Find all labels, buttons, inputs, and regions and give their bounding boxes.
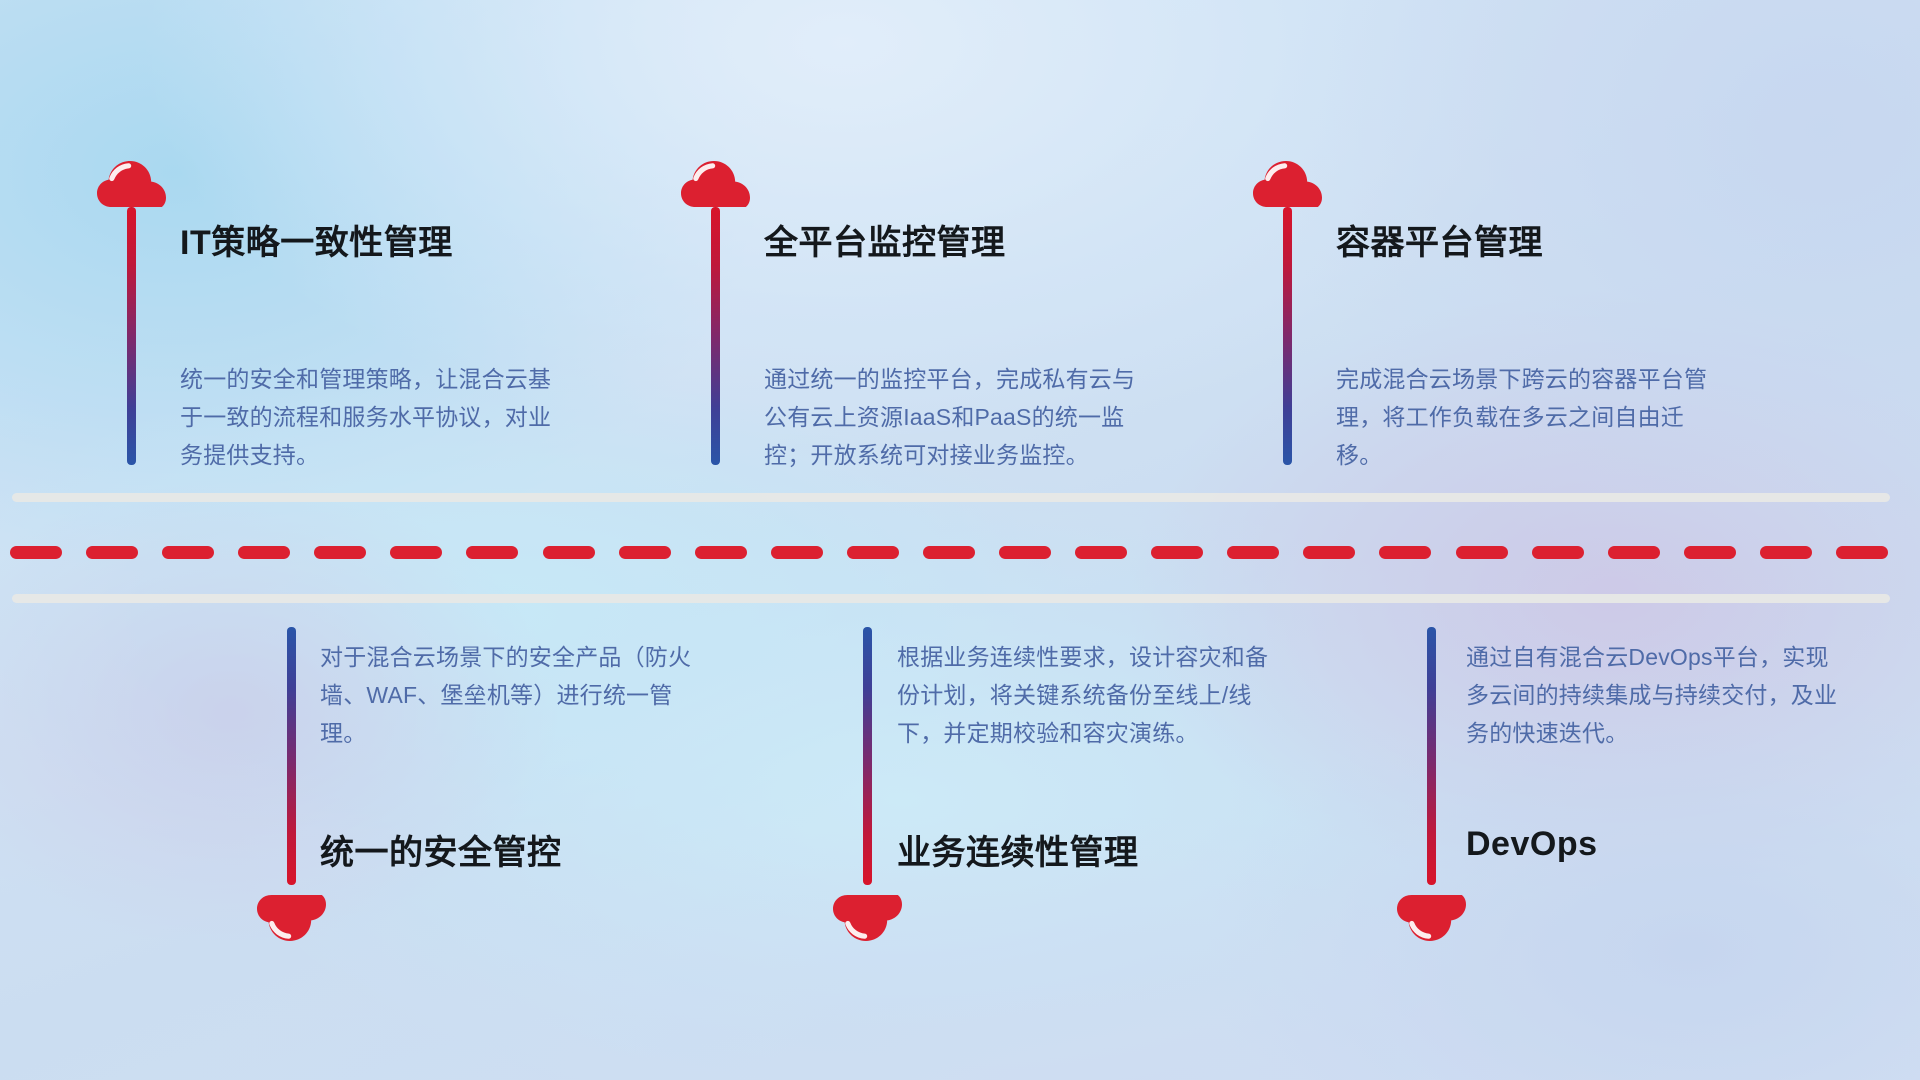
divider-line-top <box>12 493 1890 502</box>
divider-dash-segment <box>390 546 442 559</box>
divider-dash-segment <box>238 546 290 559</box>
timeline-stem <box>1283 207 1292 465</box>
timeline-stem <box>863 627 872 885</box>
divider-dash-segment <box>695 546 747 559</box>
card-body-text: 通过统一的监控平台，完成私有云与公有云上资源IaaS和PaaS的统一监控；开放系… <box>764 360 1139 474</box>
card-heading: 业务连续性管理 <box>897 825 1139 874</box>
divider-line-bottom <box>12 594 1890 603</box>
card-heading: IT策略一致性管理 <box>180 215 453 264</box>
divider-dash-segment <box>1227 546 1279 559</box>
card-body-text: 根据业务连续性要求，设计容灾和备份计划，将关键系统备份至线上/线下，并定期校验和… <box>897 638 1272 752</box>
card-heading: 全平台监控管理 <box>764 215 1006 264</box>
card-body-text: 统一的安全和管理策略，让混合云基于一致的流程和服务水平协议，对业务提供支持。 <box>180 360 555 474</box>
card-heading: DevOps <box>1466 825 1598 864</box>
cloud-icon <box>97 160 167 208</box>
divider-dash-segment <box>1684 546 1736 559</box>
card-body-text: 通过自有混合云DevOps平台，实现多云间的持续集成与持续交付，及业务的快速迭代… <box>1466 638 1841 752</box>
timeline-stem <box>1427 627 1436 885</box>
cloud-icon <box>681 160 751 208</box>
divider-dash-segment <box>1532 546 1584 559</box>
timeline-stem <box>287 627 296 885</box>
timeline-stem <box>711 207 720 465</box>
timeline-stem <box>127 207 136 465</box>
divider-dash-segment <box>619 546 671 559</box>
infographic-canvas: IT策略一致性管理统一的安全和管理策略，让混合云基于一致的流程和服务水平协议，对… <box>0 0 1920 1080</box>
divider-dashed-red <box>10 546 1912 559</box>
cloud-icon <box>1253 160 1323 208</box>
divider-dash-segment <box>543 546 595 559</box>
divider-dash-segment <box>1608 546 1660 559</box>
divider-dash-segment <box>314 546 366 559</box>
divider-dash-segment <box>10 546 62 559</box>
cloud-icon <box>833 894 903 942</box>
divider-dash-segment <box>1151 546 1203 559</box>
divider-dash-segment <box>923 546 975 559</box>
card-heading: 容器平台管理 <box>1336 215 1543 264</box>
card-body-text: 对于混合云场景下的安全产品（防火墙、WAF、堡垒机等）进行统一管理。 <box>320 638 695 752</box>
divider-dash-segment <box>1379 546 1431 559</box>
card-body-text: 完成混合云场景下跨云的容器平台管理，将工作负载在多云之间自由迁移。 <box>1336 360 1711 474</box>
card-heading: 统一的安全管控 <box>320 825 562 874</box>
divider-dash-segment <box>1760 546 1812 559</box>
cloud-icon <box>257 894 327 942</box>
divider-dash-segment <box>1836 546 1888 559</box>
divider-dash-segment <box>162 546 214 559</box>
divider-dash-segment <box>86 546 138 559</box>
divider-dash-segment <box>1303 546 1355 559</box>
divider-dash-segment <box>771 546 823 559</box>
cloud-icon <box>1397 894 1467 942</box>
divider-dash-segment <box>466 546 518 559</box>
divider-dash-segment <box>999 546 1051 559</box>
divider-dash-segment <box>1456 546 1508 559</box>
divider-dash-segment <box>847 546 899 559</box>
divider-dash-segment <box>1075 546 1127 559</box>
